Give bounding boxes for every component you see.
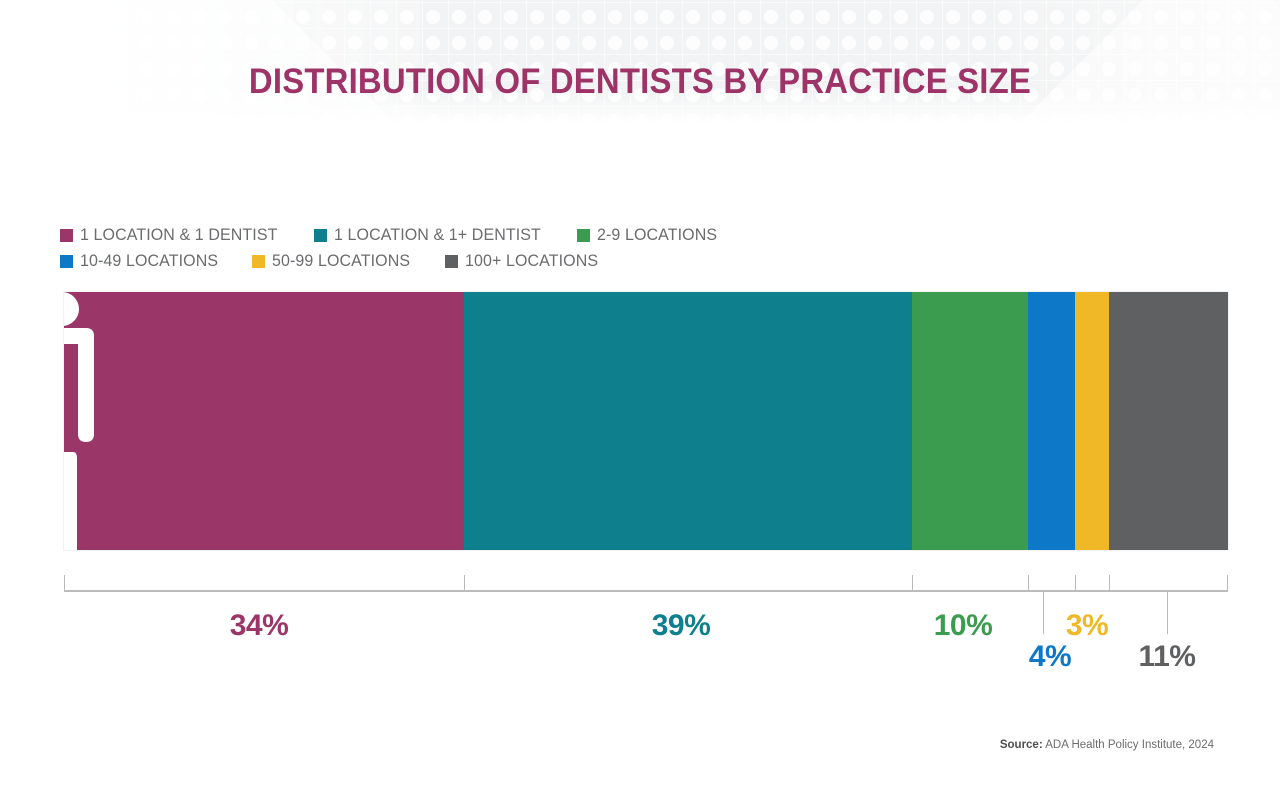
legend-swatch-icon: [60, 255, 73, 268]
legend-item-label: 1 LOCATION & 1 DENTIST: [80, 226, 278, 245]
bar-segment-100plus-locations[interactable]: [1109, 292, 1228, 550]
chart-title: DISTRIBUTION OF DENTISTS BY PRACTICE SIZ…: [38, 62, 1241, 102]
axis-tick-end: [1227, 575, 1228, 591]
value-label-2-9-locations: 10%: [898, 609, 1028, 643]
legend-swatch-icon: [314, 229, 327, 242]
leader-line-100plus: [1167, 592, 1168, 634]
value-label-1-location-1-dentist: 34%: [194, 609, 324, 643]
dentist-person-icon: [64, 292, 118, 550]
legend-row-1: 1 LOCATION & 1 DENTIST 1 LOCATION & 1+ D…: [60, 222, 1240, 248]
legend-item-1-location-1plus-dentist[interactable]: 1 LOCATION & 1+ DENTIST: [314, 226, 547, 245]
legend-swatch-icon: [60, 229, 73, 242]
axis-tick-3: [1028, 575, 1029, 591]
chart-legend: 1 LOCATION & 1 DENTIST 1 LOCATION & 1+ D…: [60, 222, 1240, 274]
bar-segment-50-99-locations[interactable]: [1075, 292, 1109, 550]
legend-item-2-9-locations[interactable]: 2-9 LOCATIONS: [577, 226, 721, 245]
legend-item-label: 50-99 LOCATIONS: [272, 252, 410, 271]
source-label: Source:: [1000, 739, 1043, 751]
legend-item-1-location-1-dentist[interactable]: 1 LOCATION & 1 DENTIST: [60, 226, 284, 245]
axis-tick-4: [1075, 575, 1076, 591]
source-text: ADA Health Policy Institute, 2024: [1045, 739, 1214, 751]
legend-item-50-99-locations[interactable]: 50-99 LOCATIONS: [252, 252, 414, 271]
value-label-50-99-locations: 3%: [1022, 609, 1152, 643]
legend-item-100plus-locations[interactable]: 100+ LOCATIONS: [445, 252, 602, 271]
value-label-10-49-locations: 4%: [985, 640, 1115, 674]
axis-tick-start: [64, 575, 65, 591]
bar-segment-10-49-locations[interactable]: [1028, 292, 1075, 550]
legend-row-2: 10-49 LOCATIONS 50-99 LOCATIONS 100+ LOC…: [60, 248, 1240, 274]
legend-item-label: 100+ LOCATIONS: [465, 252, 598, 271]
source-note: Source: ADA Health Policy Institute, 202…: [1000, 739, 1214, 751]
axis-baseline: [64, 590, 1228, 592]
legend-swatch-icon: [577, 229, 590, 242]
axis-tick-5: [1109, 575, 1110, 591]
legend-item-label: 1 LOCATION & 1+ DENTIST: [334, 226, 541, 245]
legend-swatch-icon: [252, 255, 265, 268]
axis-tick-1: [464, 575, 465, 591]
value-label-100plus-locations: 11%: [1102, 640, 1232, 674]
legend-swatch-icon: [445, 255, 458, 268]
stacked-bar-track: [64, 292, 1228, 550]
stacked-bar-chart: [64, 292, 1228, 550]
value-label-1-location-1plus-dentist: 39%: [616, 609, 746, 643]
bar-segment-1-location-1plus-dentist[interactable]: [464, 292, 912, 550]
legend-item-label: 10-49 LOCATIONS: [80, 252, 218, 271]
bar-segment-2-9-locations[interactable]: [912, 292, 1028, 550]
legend-item-label: 2-9 LOCATIONS: [597, 226, 717, 245]
legend-item-10-49-locations[interactable]: 10-49 LOCATIONS: [60, 252, 222, 271]
axis-tick-2: [912, 575, 913, 591]
bar-segment-1-location-1-dentist[interactable]: [64, 292, 464, 550]
